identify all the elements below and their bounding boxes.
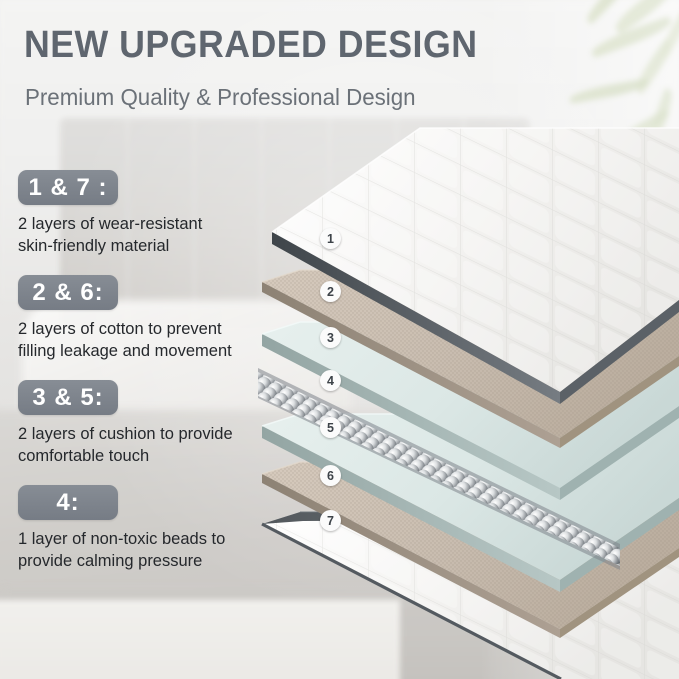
layer-badge-2: 2 xyxy=(320,281,341,302)
callout-3-and-5: 3 & 5: 2 layers of cushion to provide co… xyxy=(18,380,270,468)
callout-desc-line2: provide calming pressure xyxy=(18,551,270,573)
callout-pill-1-and-7: 1 & 7 : xyxy=(18,170,118,205)
callout-desc-line2: filling leakage and movement xyxy=(18,341,270,363)
callout-desc-line1: 2 layers of wear-resistant xyxy=(18,214,270,236)
callout-4: 4: 1 layer of non-toxic beads to provide… xyxy=(18,485,270,573)
layer-badge-7: 7 xyxy=(320,510,341,531)
callout-1-and-7: 1 & 7 : 2 layers of wear-resistant skin-… xyxy=(18,170,270,258)
callout-pill-4: 4: xyxy=(18,485,118,520)
callout-desc-line1: 2 layers of cotton to prevent xyxy=(18,319,270,341)
callout-desc-1-and-7: 2 layers of wear-resistant skin-friendly… xyxy=(18,214,270,258)
layer-badge-5: 5 xyxy=(320,417,341,438)
callout-2-and-6: 2 & 6: 2 layers of cotton to prevent fil… xyxy=(18,275,270,363)
callout-desc-4: 1 layer of non-toxic beads to provide ca… xyxy=(18,529,270,573)
callout-desc-line1: 2 layers of cushion to provide xyxy=(18,424,270,446)
callout-desc-line2: skin-friendly material xyxy=(18,236,270,258)
callout-pill-3-and-5: 3 & 5: xyxy=(18,380,118,415)
layer-badge-6: 6 xyxy=(320,465,341,486)
layer-badge-4: 4 xyxy=(320,370,341,391)
callout-desc-2-and-6: 2 layers of cotton to prevent filling le… xyxy=(18,319,270,363)
callout-pill-2-and-6: 2 & 6: xyxy=(18,275,118,310)
product-infographic: 1 2 3 4 5 6 7 NEW UPGRADED DESIGN Premiu… xyxy=(0,0,679,679)
callout-desc-line2: comfortable touch xyxy=(18,446,270,468)
page-subtitle: Premium Quality & Professional Design xyxy=(25,84,416,111)
callout-desc-line1: 1 layer of non-toxic beads to xyxy=(18,529,270,551)
layer-badge-3: 3 xyxy=(320,327,341,348)
page-title: NEW UPGRADED DESIGN xyxy=(24,24,477,67)
layer-badge-1: 1 xyxy=(320,228,341,249)
callout-desc-3-and-5: 2 layers of cushion to provide comfortab… xyxy=(18,424,270,468)
